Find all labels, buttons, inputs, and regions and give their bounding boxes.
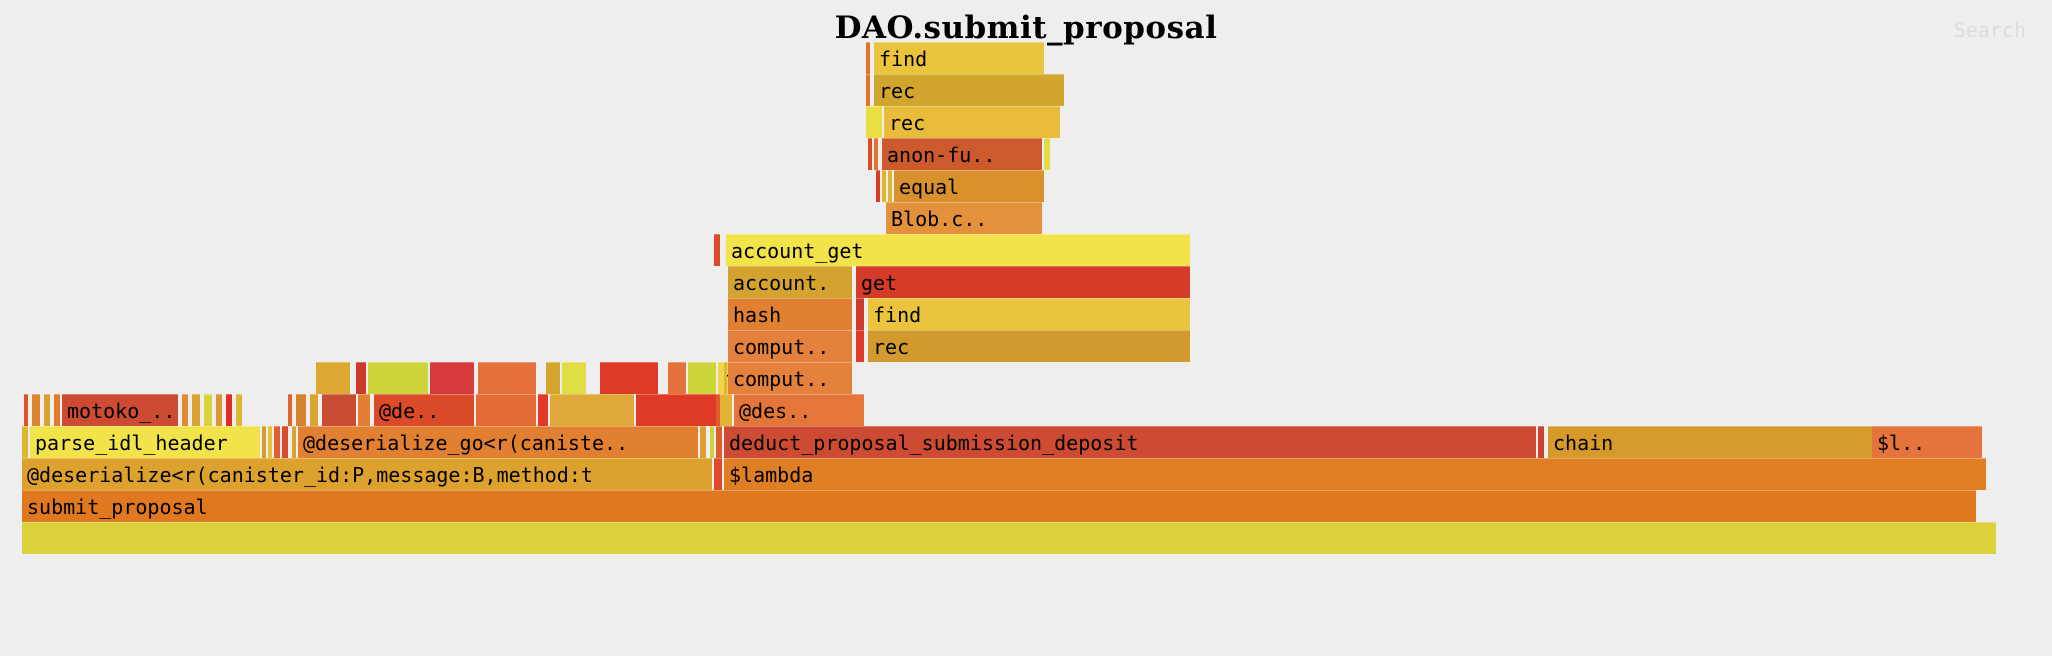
flame-frame-sliver[interactable] (636, 394, 716, 426)
flame-frame-sliver[interactable] (430, 362, 474, 394)
flame-frame-label: @des.. (739, 401, 811, 421)
flame-frame[interactable]: Blob.c.. (886, 202, 1042, 234)
flame-frame-label: account_get (731, 241, 863, 261)
flame-frame-sliver[interactable] (1538, 426, 1544, 458)
flame-frame-sliver[interactable] (292, 426, 296, 458)
flame-frame-sliver[interactable] (358, 394, 370, 426)
flame-frame-sliver[interactable] (546, 362, 560, 394)
flame-frame[interactable]: $l.. (1872, 426, 1982, 458)
flame-frame-sliver[interactable] (262, 426, 266, 458)
flame-frame[interactable]: motoko_.. (62, 394, 178, 426)
flame-frame-label: $lambda (729, 465, 813, 485)
flame-frame-sliver[interactable] (22, 522, 1996, 554)
flame-frame[interactable]: comput.. (728, 330, 852, 362)
flame-frame-label: @deserialize_go<r(caniste.. (303, 433, 628, 453)
flame-frame-sliver[interactable] (204, 394, 212, 426)
flame-frame-sliver[interactable] (876, 170, 880, 202)
flame-frame-sliver[interactable] (562, 362, 586, 394)
flame-frame-sliver[interactable] (32, 394, 40, 426)
flame-frame[interactable]: comput.. (728, 362, 852, 394)
flame-frame-label: rec (873, 337, 909, 357)
flame-frame-label: hash (733, 305, 781, 325)
flame-frame-sliver[interactable] (856, 330, 864, 362)
flame-frame[interactable]: @deserialize<r(canister_id:P,message:B,m… (22, 458, 712, 490)
flame-frame[interactable]: @de.. (374, 394, 474, 426)
search-button[interactable]: Search (1954, 18, 2026, 42)
flame-frame-sliver[interactable] (718, 394, 732, 426)
flame-frame-sliver[interactable] (182, 394, 188, 426)
flame-frame-sliver[interactable] (866, 106, 882, 138)
flame-frame-label: chain (1553, 433, 1613, 453)
flame-frame[interactable]: find (868, 298, 1190, 330)
flame-frame-sliver[interactable] (24, 394, 28, 426)
flame-frame-sliver[interactable] (296, 394, 306, 426)
flame-frame-sliver[interactable] (316, 362, 350, 394)
flame-frame[interactable]: deduct_proposal_submission_deposit (724, 426, 1536, 458)
flame-frame-label: @deserialize<r(canister_id:P,message:B,m… (27, 465, 593, 485)
flame-frame-sliver[interactable] (866, 42, 870, 74)
page-title: DAO.submit_proposal (0, 10, 2052, 46)
flame-frame[interactable]: submit_proposal (22, 490, 1976, 522)
flame-graph[interactable]: DAO.submit_proposal Search submit_propos… (0, 0, 2052, 656)
flame-frame-label: @de.. (379, 401, 439, 421)
flame-frame-sliver[interactable] (716, 426, 722, 458)
flame-frame-sliver[interactable] (1044, 138, 1050, 170)
flame-frame-sliver[interactable] (700, 426, 706, 458)
flame-frame-sliver[interactable] (44, 394, 50, 426)
flame-frame[interactable]: rec (884, 106, 1060, 138)
flame-graph-canvas[interactable]: submit_proposal@deserialize<r(canister_i… (0, 62, 2052, 656)
flame-frame-sliver[interactable] (192, 394, 200, 426)
flame-frame-label: find (873, 305, 921, 325)
flame-frame-label: deduct_proposal_submission_deposit (729, 433, 1138, 453)
flame-frame-label: get (861, 273, 897, 293)
flame-frame-sliver[interactable] (476, 394, 536, 426)
flame-frame-sliver[interactable] (688, 362, 716, 394)
flame-frame-sliver[interactable] (668, 362, 686, 394)
flame-frame-sliver[interactable] (216, 394, 222, 426)
flame-frame-label: equal (899, 177, 959, 197)
flame-frame-label: comput.. (733, 337, 829, 357)
flame-frame-sliver[interactable] (54, 394, 60, 426)
flame-frame-sliver[interactable] (868, 138, 872, 170)
flame-frame-label: rec (889, 113, 925, 133)
flame-frame-sliver[interactable] (236, 394, 242, 426)
flame-frame-sliver[interactable] (724, 362, 726, 394)
flame-frame[interactable]: account_get (726, 234, 1190, 266)
flame-frame[interactable]: @deserialize_go<r(caniste.. (298, 426, 698, 458)
flame-frame-sliver[interactable] (226, 394, 232, 426)
flame-frame-sliver[interactable] (600, 362, 658, 394)
flame-frame-label: parse_idl_header (35, 433, 228, 453)
flame-frame-label: find (879, 49, 927, 69)
flame-frame-sliver[interactable] (874, 138, 878, 170)
flame-frame-sliver[interactable] (856, 298, 864, 330)
flame-frame-sliver[interactable] (888, 170, 892, 202)
flame-frame[interactable]: account. (728, 266, 852, 298)
flame-frame-sliver[interactable] (714, 234, 720, 266)
flame-frame-sliver[interactable] (726, 362, 727, 394)
flame-frame-sliver[interactable] (322, 394, 356, 426)
flame-frame-sliver[interactable] (368, 362, 428, 394)
flame-frame[interactable]: get (856, 266, 1190, 298)
flame-frame-sliver[interactable] (356, 362, 366, 394)
flame-frame-sliver[interactable] (710, 426, 714, 458)
flame-frame[interactable]: rec (874, 74, 1064, 106)
flame-frame-sliver[interactable] (288, 394, 292, 426)
flame-frame-label: motoko_.. (67, 401, 175, 421)
flame-frame-label: Blob.c.. (891, 209, 987, 229)
flame-frame-sliver[interactable] (310, 394, 318, 426)
flame-frame[interactable]: @des.. (734, 394, 864, 426)
flame-frame-sliver[interactable] (268, 426, 272, 458)
flame-frame[interactable]: parse_idl_header (30, 426, 260, 458)
flame-frame[interactable]: equal (894, 170, 1044, 202)
flame-frame[interactable]: hash (728, 298, 852, 330)
flame-frame-sliver[interactable] (716, 394, 720, 426)
flame-frame-sliver[interactable] (282, 426, 288, 458)
flame-frame-sliver[interactable] (478, 362, 536, 394)
flame-frame-label: comput.. (733, 369, 829, 389)
flame-frame[interactable]: anon-fu.. (882, 138, 1042, 170)
flame-frame-label: $l.. (1877, 433, 1925, 453)
flame-frame-sliver[interactable] (538, 394, 548, 426)
flame-frame-label: submit_proposal (27, 497, 208, 517)
flame-frame-sliver[interactable] (274, 426, 280, 458)
flame-frame[interactable]: rec (868, 330, 1190, 362)
flame-frame-label: account. (733, 273, 829, 293)
flame-frame[interactable]: $lambda (724, 458, 1986, 490)
flame-frame[interactable]: find (874, 42, 1044, 74)
flame-frame-sliver[interactable] (866, 74, 870, 106)
flame-frame-label: anon-fu.. (887, 145, 995, 165)
flame-frame-sliver[interactable] (882, 170, 886, 202)
flame-frame-sliver[interactable] (22, 426, 28, 458)
flame-frame-sliver[interactable] (550, 394, 634, 426)
flame-frame-sliver[interactable] (714, 458, 722, 490)
flame-frame-label: rec (879, 81, 915, 101)
